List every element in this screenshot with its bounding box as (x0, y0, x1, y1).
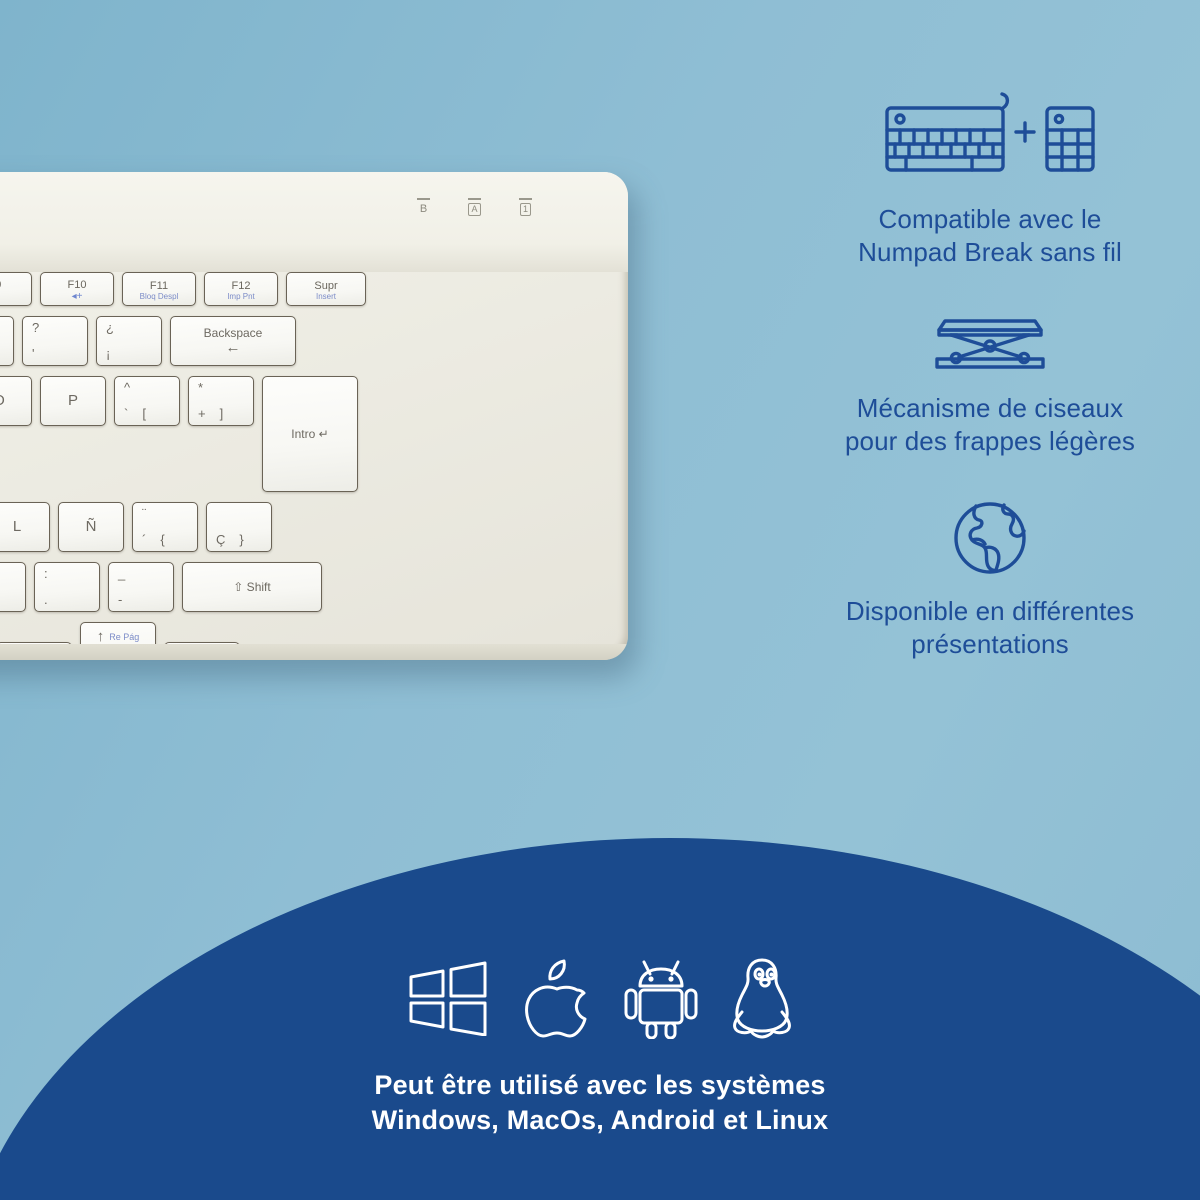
keyboard-key[interactable]: L (0, 502, 50, 552)
keyboard-row-numbers: &6¬/7(8)9=0?'¿¡Backspace← (0, 316, 628, 366)
keyboard-key[interactable]: ;, (0, 562, 26, 612)
feature-item-compatibility: Compatible avec le Numpad Break sans fil (790, 92, 1190, 269)
key-primary-label: - (118, 593, 122, 607)
feature-caption: Disponible en différentes présentations (846, 595, 1134, 661)
keyboard-key[interactable]: ^`[ (114, 376, 180, 426)
key-row-top: * (198, 381, 244, 395)
key-row-top: = (0, 321, 4, 335)
key-primary-label: Intro ↵ (291, 427, 328, 441)
key-row-top: ^ (124, 381, 170, 395)
keyboard-key[interactable]: O (0, 376, 32, 426)
key-primary-label: O (0, 393, 5, 409)
indicator-bar (468, 198, 481, 200)
keyboard-top-band (0, 172, 628, 272)
key-arrow-glyph: ← (226, 340, 241, 356)
keyboard-key[interactable]: SuprInsert (286, 272, 366, 306)
key-primary-label: Backspace (204, 326, 263, 340)
key-shift-label: ¿ (106, 321, 114, 335)
caption-line-1: Mécanisme de ciseaux (845, 392, 1135, 425)
keyboard-key[interactable]: Ñ (58, 502, 124, 552)
feature-item-scissor-mechanism: Mécanisme de ciseaux pour des frappes lé… (790, 311, 1190, 458)
key-altgr-label: { (160, 533, 164, 547)
keyboard-plus-numpad-icon (875, 92, 1105, 189)
keyboard-row-shift: VBNM;,:._-⇧ Shift (0, 562, 628, 612)
keyboard-row-function: F5◀❙F6▶‖F7▶❙F8◂×F9◂−F10◂+F11Bloq DesplF1… (0, 272, 628, 306)
key-row-bottom: 0 (0, 347, 4, 361)
keyboard-key[interactable]: _- (108, 562, 174, 612)
keyboard-indicator-leds: B A 1 (417, 198, 532, 216)
key-shift-label: ? (32, 321, 39, 335)
linux-tux-logo-icon (729, 957, 795, 1044)
keyboard-key[interactable]: ?' (22, 316, 88, 366)
key-altgr-label: ] (220, 407, 224, 421)
banner-line-2: Windows, MacOs, Android et Linux (372, 1103, 829, 1138)
keyboard-key[interactable]: :. (34, 562, 100, 612)
key-primary-label: ´ (142, 533, 146, 547)
key-row-bottom: , (0, 593, 16, 607)
key-row-bottom: . (44, 593, 90, 607)
key-row-top: ¨ (142, 507, 188, 521)
keyboard-photo: B A 1 F5◀❙F6▶‖F7▶❙F8◂×F9◂−F10◂+F11Bloq D… (0, 172, 635, 672)
key-row-bottom: ´{ (142, 533, 188, 547)
key-row-bottom: +] (198, 407, 244, 421)
keyboard-key[interactable]: F12Imp Pnt (204, 272, 278, 306)
apple-logo-icon (521, 957, 593, 1044)
key-row-bottom: - (118, 593, 164, 607)
feature-list: Compatible avec le Numpad Break sans fil (790, 92, 1190, 661)
feature-caption: Mécanisme de ciseaux pour des frappes lé… (845, 392, 1135, 458)
key-altgr-label: [ (142, 407, 146, 421)
key-primary-label: F10 (68, 279, 87, 291)
product-feature-poster: B A 1 F5◀❙F6▶‖F7▶❙F8◂×F9◂−F10◂+F11Bloq D… (0, 0, 1200, 1200)
keyboard-bottom-edge (0, 644, 628, 660)
key-primary-label: F12 (232, 280, 251, 292)
key-row-bottom: ' (32, 347, 78, 361)
key-primary-label: ' (32, 347, 34, 361)
caption-line-2: pour des frappes légères (845, 425, 1135, 458)
key-row-bottom: `[ (124, 407, 170, 421)
key-primary-label: . (44, 593, 48, 607)
banner-line-1: Peut être utilisé avec les systèmes (372, 1068, 829, 1103)
capslock-indicator-icon: A (468, 198, 481, 216)
key-secondary-label: Re Pág (109, 632, 139, 642)
caption-line-1: Compatible avec le (858, 203, 1122, 236)
indicator-glyph: A (468, 203, 480, 216)
keyboard-key[interactable]: P (40, 376, 106, 426)
keyboard-key[interactable]: Ç} (206, 502, 272, 552)
globe-icon (952, 500, 1028, 581)
key-primary-label: Ç (216, 533, 225, 547)
feature-caption: Compatible avec le Numpad Break sans fil (858, 203, 1122, 269)
key-shift-label: _ (118, 567, 125, 581)
os-compatibility-banner: Peut être utilisé avec les systèmes Wind… (0, 957, 1200, 1138)
keyboard-key-grid: F5◀❙F6▶‖F7▶❙F8◂×F9◂−F10◂+F11Bloq DesplF1… (0, 272, 628, 660)
key-primary-label: L (13, 519, 21, 535)
key-media-glyph: ◂+ (72, 291, 83, 302)
bluetooth-indicator-icon: B (417, 198, 430, 216)
key-primary-label: ¡ (106, 347, 110, 361)
keyboard-key[interactable]: *+] (188, 376, 254, 426)
keyboard-key[interactable]: ¨´{ (132, 502, 198, 552)
caption-line-2: présentations (846, 628, 1134, 661)
key-row-top: : (44, 567, 90, 581)
os-logo-row (405, 957, 795, 1044)
key-primary-label: F11 (150, 280, 168, 292)
key-shift-label: * (198, 381, 203, 395)
key-row-top: ; (0, 567, 16, 581)
caption-line-1: Disponible en différentes (846, 595, 1134, 628)
key-secondary-label: Insert (316, 292, 336, 302)
key-primary-label: + (198, 407, 206, 421)
keyboard-row-home: GHJKLÑ¨´{Ç} (0, 502, 628, 552)
scissor-mechanism-icon (929, 311, 1051, 378)
key-secondary-label: Bloq Despl (140, 292, 179, 302)
key-primary-label: F9 (0, 279, 1, 291)
key-shift-label: ^ (124, 381, 130, 395)
banner-text: Peut être utilisé avec les systèmes Wind… (372, 1068, 829, 1138)
indicator-glyph: 1 (520, 203, 531, 216)
key-shift-label: : (44, 567, 48, 581)
keyboard-key[interactable]: ¿¡ (96, 316, 162, 366)
key-secondary-label: Imp Pnt (227, 292, 255, 302)
key-row-bottom: Ç} (216, 533, 262, 547)
indicator-bar (519, 198, 532, 200)
key-primary-label: P (68, 393, 78, 409)
keyboard-key[interactable]: =0 (0, 316, 14, 366)
key-primary-label: Ñ (86, 519, 97, 535)
key-row-top: ? (32, 321, 78, 335)
caption-line-2: Numpad Break sans fil (858, 236, 1122, 269)
key-primary-label: Supr (314, 280, 337, 292)
keyboard-body: B A 1 F5◀❙F6▶‖F7▶❙F8◂×F9◂−F10◂+F11Bloq D… (0, 172, 628, 660)
keyboard-key[interactable]: Backspace← (170, 316, 296, 366)
windows-logo-icon (405, 960, 491, 1041)
key-row-top: ¿ (106, 321, 152, 335)
feature-item-presentations: Disponible en différentes présentations (790, 500, 1190, 661)
keyboard-row-qwerty: TYUIOP^`[*+]Intro ↵ (0, 376, 628, 492)
key-arrow-glyph: ↑ (97, 629, 105, 645)
android-logo-icon (623, 957, 699, 1044)
indicator-bar (417, 198, 430, 200)
indicator-glyph: B (420, 203, 427, 215)
keyboard-key[interactable]: F9◂− (0, 272, 32, 306)
key-row-bottom: ¡ (106, 347, 152, 361)
numlock-indicator-icon: 1 (519, 198, 532, 216)
keyboard-key[interactable]: Intro ↵ (262, 376, 358, 492)
key-row-top: _ (118, 567, 164, 581)
key-altgr-label: } (239, 533, 243, 547)
key-primary-label: ` (124, 407, 128, 421)
keyboard-key[interactable]: F11Bloq Despl (122, 272, 196, 306)
keyboard-key[interactable]: ⇧ Shift (182, 562, 322, 612)
key-primary-label: ⇧ Shift (233, 580, 270, 594)
keyboard-key[interactable]: F10◂+ (40, 272, 114, 306)
key-shift-label: ¨ (142, 507, 146, 521)
